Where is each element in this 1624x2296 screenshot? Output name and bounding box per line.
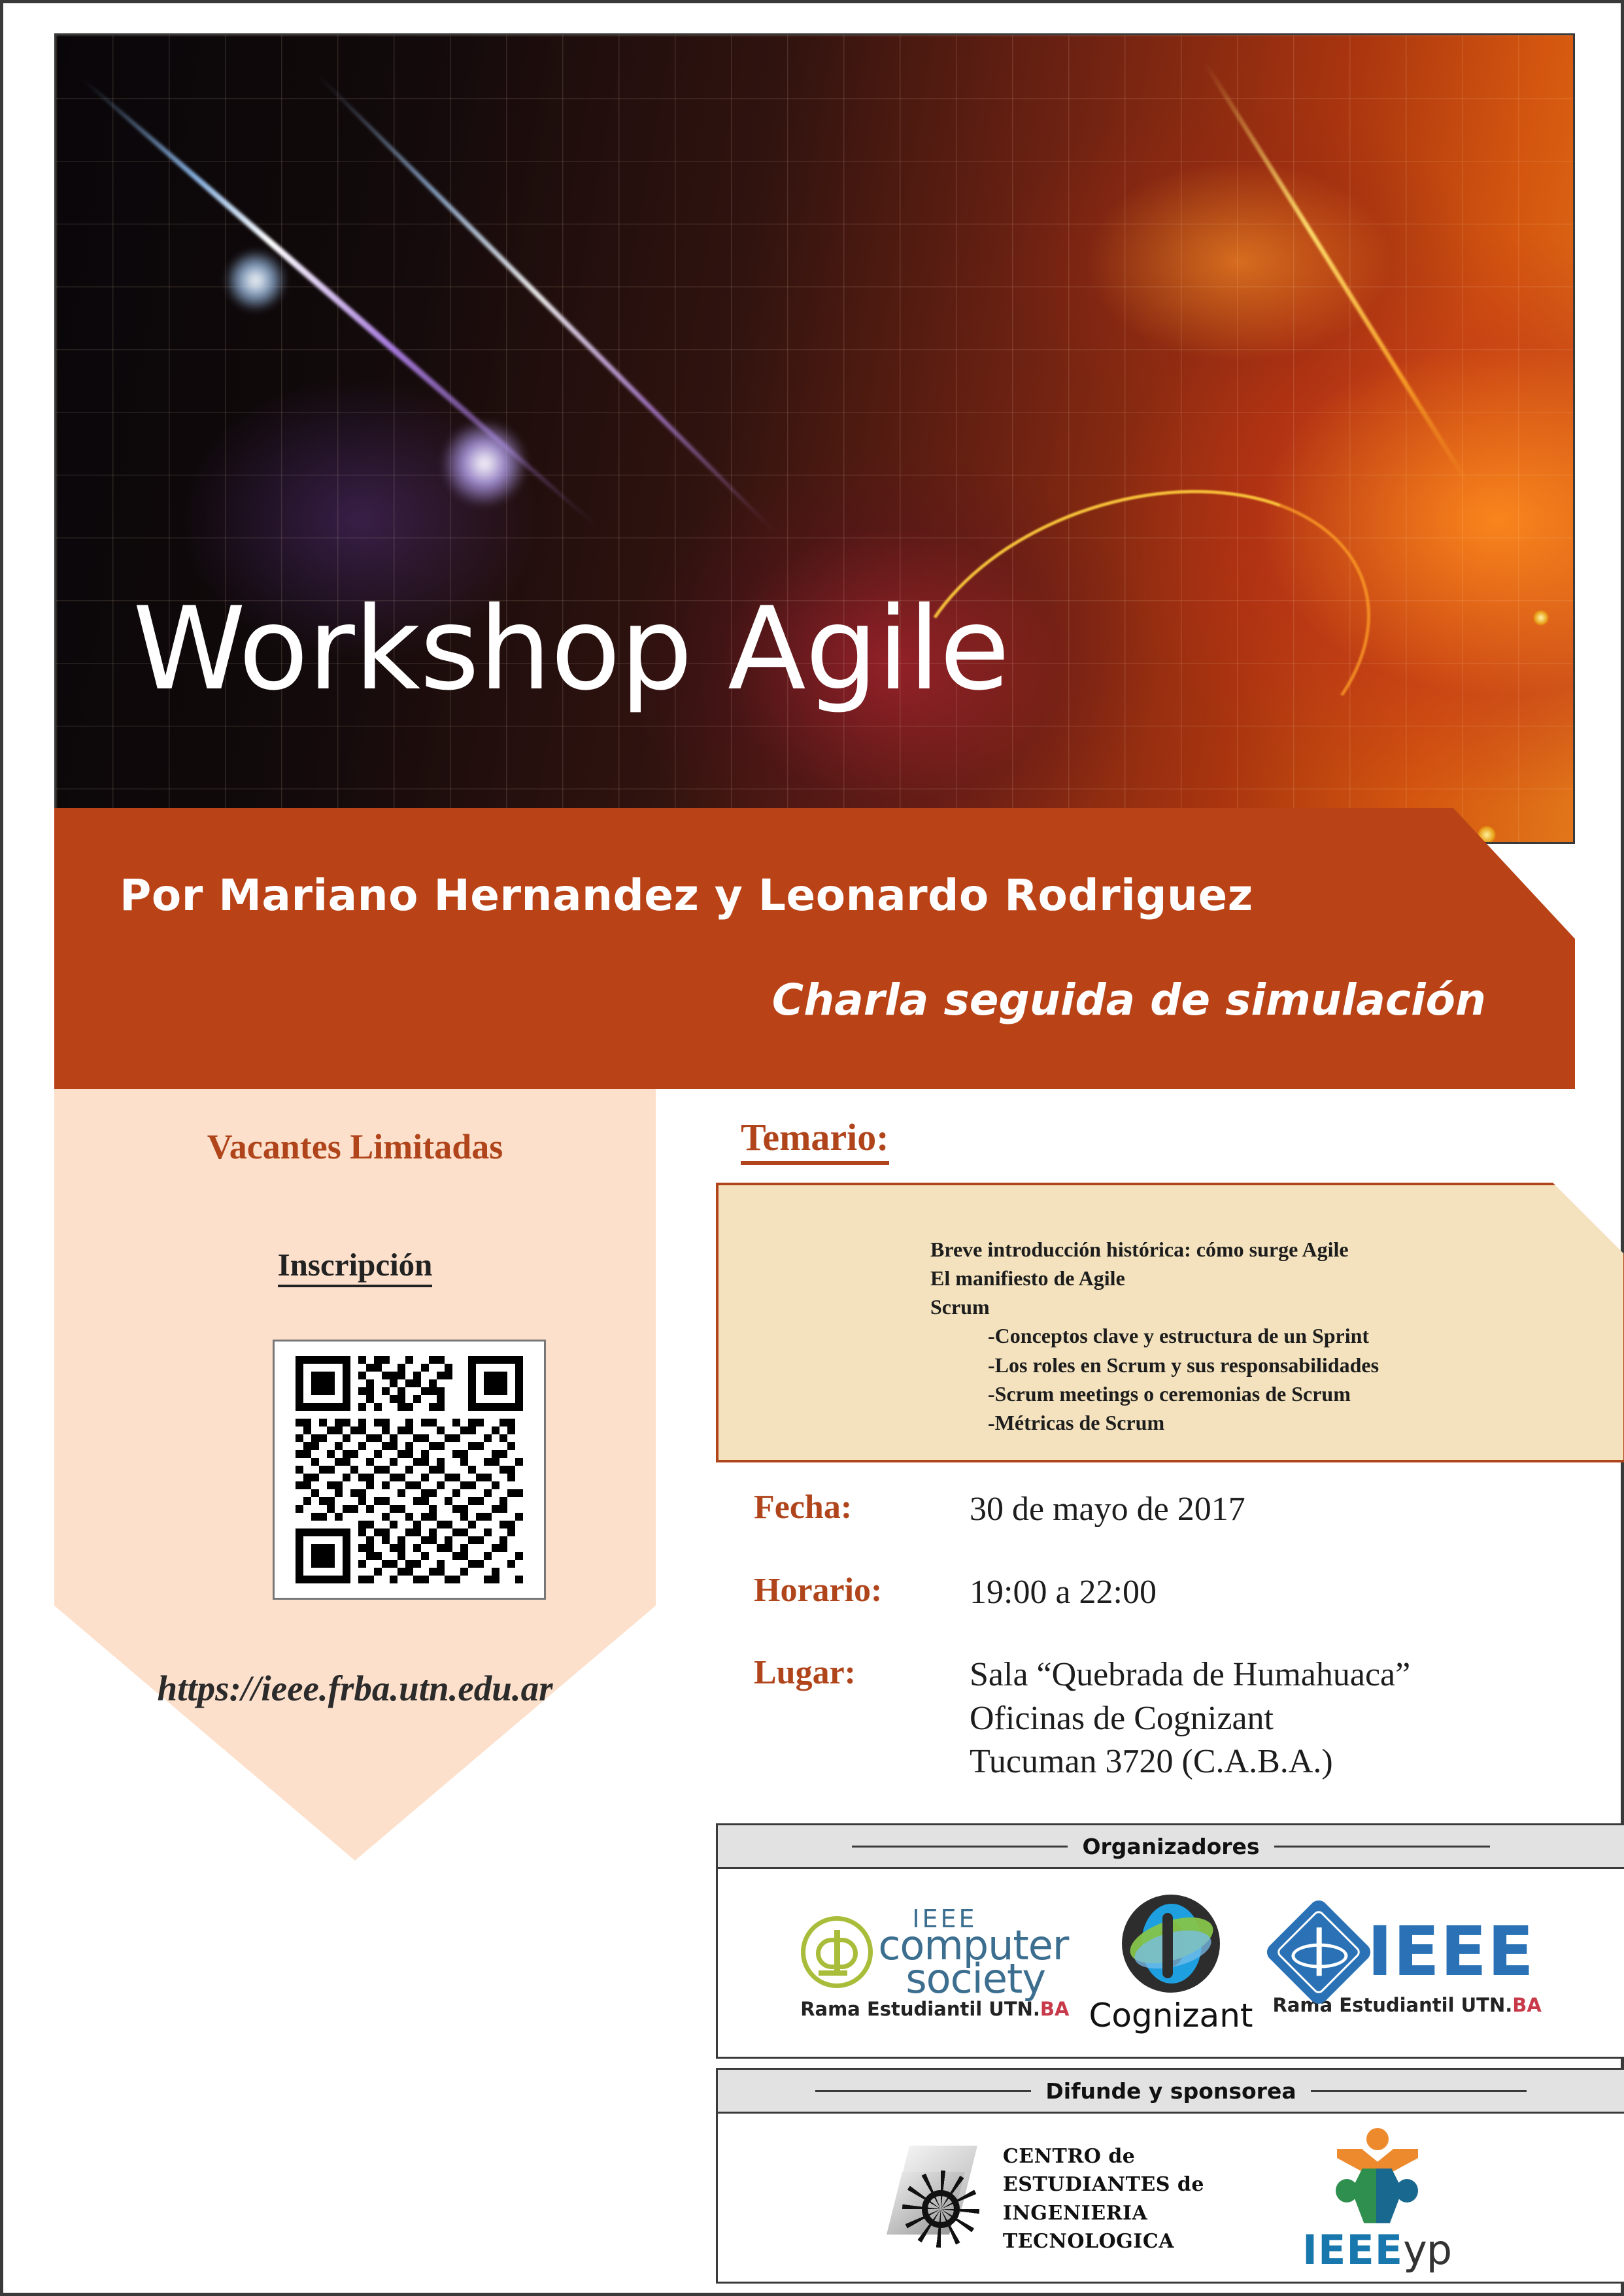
ieee-diamond-icon: [1263, 1897, 1374, 2008]
cs-wordmark: IEEE computer society: [878, 1909, 1068, 1996]
divider-line: [852, 1846, 1068, 1848]
logo-ceit: CENTRO de ESTUDIANTES de INGENIERIA TECN…: [890, 2142, 1204, 2256]
detail-row-horario: Horario: 19:00 a 22:00: [754, 1571, 1624, 1615]
logo-cognizant: Cognizant: [1089, 1895, 1253, 2034]
sponsors-header: Difunde y sponsorea: [718, 2070, 1624, 2114]
ieee-yp-wordmark: IEEEyp: [1302, 2230, 1451, 2271]
ceit-wordmark: CENTRO de ESTUDIANTES de INGENIERIA TECN…: [1003, 2142, 1204, 2256]
ceit-sun-icon: [890, 2142, 989, 2256]
speaker-banner: [54, 808, 1575, 1089]
banner-subtitle: Charla seguida de simulación: [120, 975, 1486, 1025]
organizers-section: Organizadores IEEE computer society Rama…: [716, 1823, 1624, 2059]
qr-code-icon: [296, 1356, 523, 1583]
organizers-logos: IEEE computer society Rama Estudiantil U…: [718, 1869, 1624, 2060]
agenda-item: -Scrum meetings o ceremonias de Scrum: [930, 1379, 1379, 1408]
poster-title: Workshop Agile: [133, 592, 1009, 707]
ieee-wordmark: IEEE: [1367, 1921, 1534, 1983]
agenda-item: El manifiesto de Agile: [930, 1264, 1379, 1292]
organizers-title: Organizadores: [1082, 1834, 1259, 1859]
detail-label: Lugar:: [754, 1653, 970, 1784]
divider-line: [1311, 2090, 1527, 2092]
computer-society-mark: IEEE computer society: [801, 1909, 1068, 1996]
organizers-header: Organizadores: [718, 1825, 1624, 1869]
agenda-item: -Los roles en Scrum y sus responsabilida…: [930, 1351, 1379, 1379]
logo-ieee-computer-society: IEEE computer society Rama Estudiantil U…: [800, 1909, 1069, 2021]
divider-line: [815, 2090, 1031, 2092]
glow-dot-icon: [1534, 611, 1548, 625]
sponsors-logos: CENTRO de ESTUDIANTES de INGENIERIA TECN…: [718, 2114, 1624, 2284]
lens-flare-icon: [442, 421, 527, 506]
sponsors-section: Difunde y sponsorea CENTRO de ESTUDIANTE…: [716, 2068, 1624, 2284]
agenda-list: Breve introducción histórica: cómo surge…: [930, 1235, 1379, 1437]
cognizant-mark-icon: [1122, 1895, 1220, 1993]
branch-label: Rama Estudiantil UTN.BA: [800, 1998, 1069, 2020]
lens-flare-icon: [226, 251, 285, 310]
logo-ieee-yp: IEEEyp: [1302, 2128, 1451, 2271]
detail-value: 30 de mayo de 2017: [970, 1488, 1245, 1532]
ieee-yp-people-icon: [1328, 2128, 1426, 2225]
cs-emblem-icon: [801, 1916, 873, 1988]
vacancies-text: Vacantes Limitadas: [54, 1126, 656, 1167]
logo-ieee: IEEE Rama Estudiantil UTN.BA: [1273, 1913, 1542, 2016]
detail-label: Horario:: [754, 1571, 970, 1615]
agenda-item: -Conceptos clave y estructura de un Spri…: [930, 1321, 1379, 1350]
ieee-mark: IEEE: [1279, 1913, 1534, 1991]
detail-row-lugar: Lugar: Sala “Quebrada de Humahuaca” Ofic…: [754, 1653, 1624, 1784]
cognizant-wordmark: Cognizant: [1089, 1997, 1253, 2034]
agenda-item: Scrum: [930, 1292, 1379, 1321]
agenda-heading: Temario:: [741, 1115, 889, 1159]
detail-row-fecha: Fecha: 30 de mayo de 2017: [754, 1488, 1624, 1532]
hero-grid-overlay: [56, 35, 1573, 842]
detail-label: Fecha:: [754, 1488, 970, 1532]
registration-url[interactable]: https://ieee.frba.utn.edu.ar: [54, 1668, 656, 1709]
agenda-item: Breve introducción histórica: cómo surge…: [930, 1235, 1379, 1264]
agenda-item: -Métricas de Scrum: [930, 1408, 1379, 1437]
registration-label: Inscripción: [54, 1246, 656, 1283]
qr-code[interactable]: [273, 1340, 546, 1600]
detail-value: 19:00 a 22:00: [970, 1571, 1157, 1615]
poster-page: Workshop Agile Por Mariano Hernandez y L…: [0, 0, 1624, 2296]
hero-image: [54, 33, 1575, 844]
divider-line: [1274, 1846, 1490, 1848]
poster-content: Workshop Agile Por Mariano Hernandez y L…: [54, 33, 1575, 2232]
sponsors-title: Difunde y sponsorea: [1045, 2078, 1296, 2104]
speakers-text: Por Mariano Hernandez y Leonardo Rodrigu…: [120, 870, 1506, 920]
detail-value: Sala “Quebrada de Humahuaca” Oficinas de…: [970, 1653, 1410, 1784]
event-details: Fecha: 30 de mayo de 2017 Horario: 19:00…: [754, 1488, 1624, 1823]
